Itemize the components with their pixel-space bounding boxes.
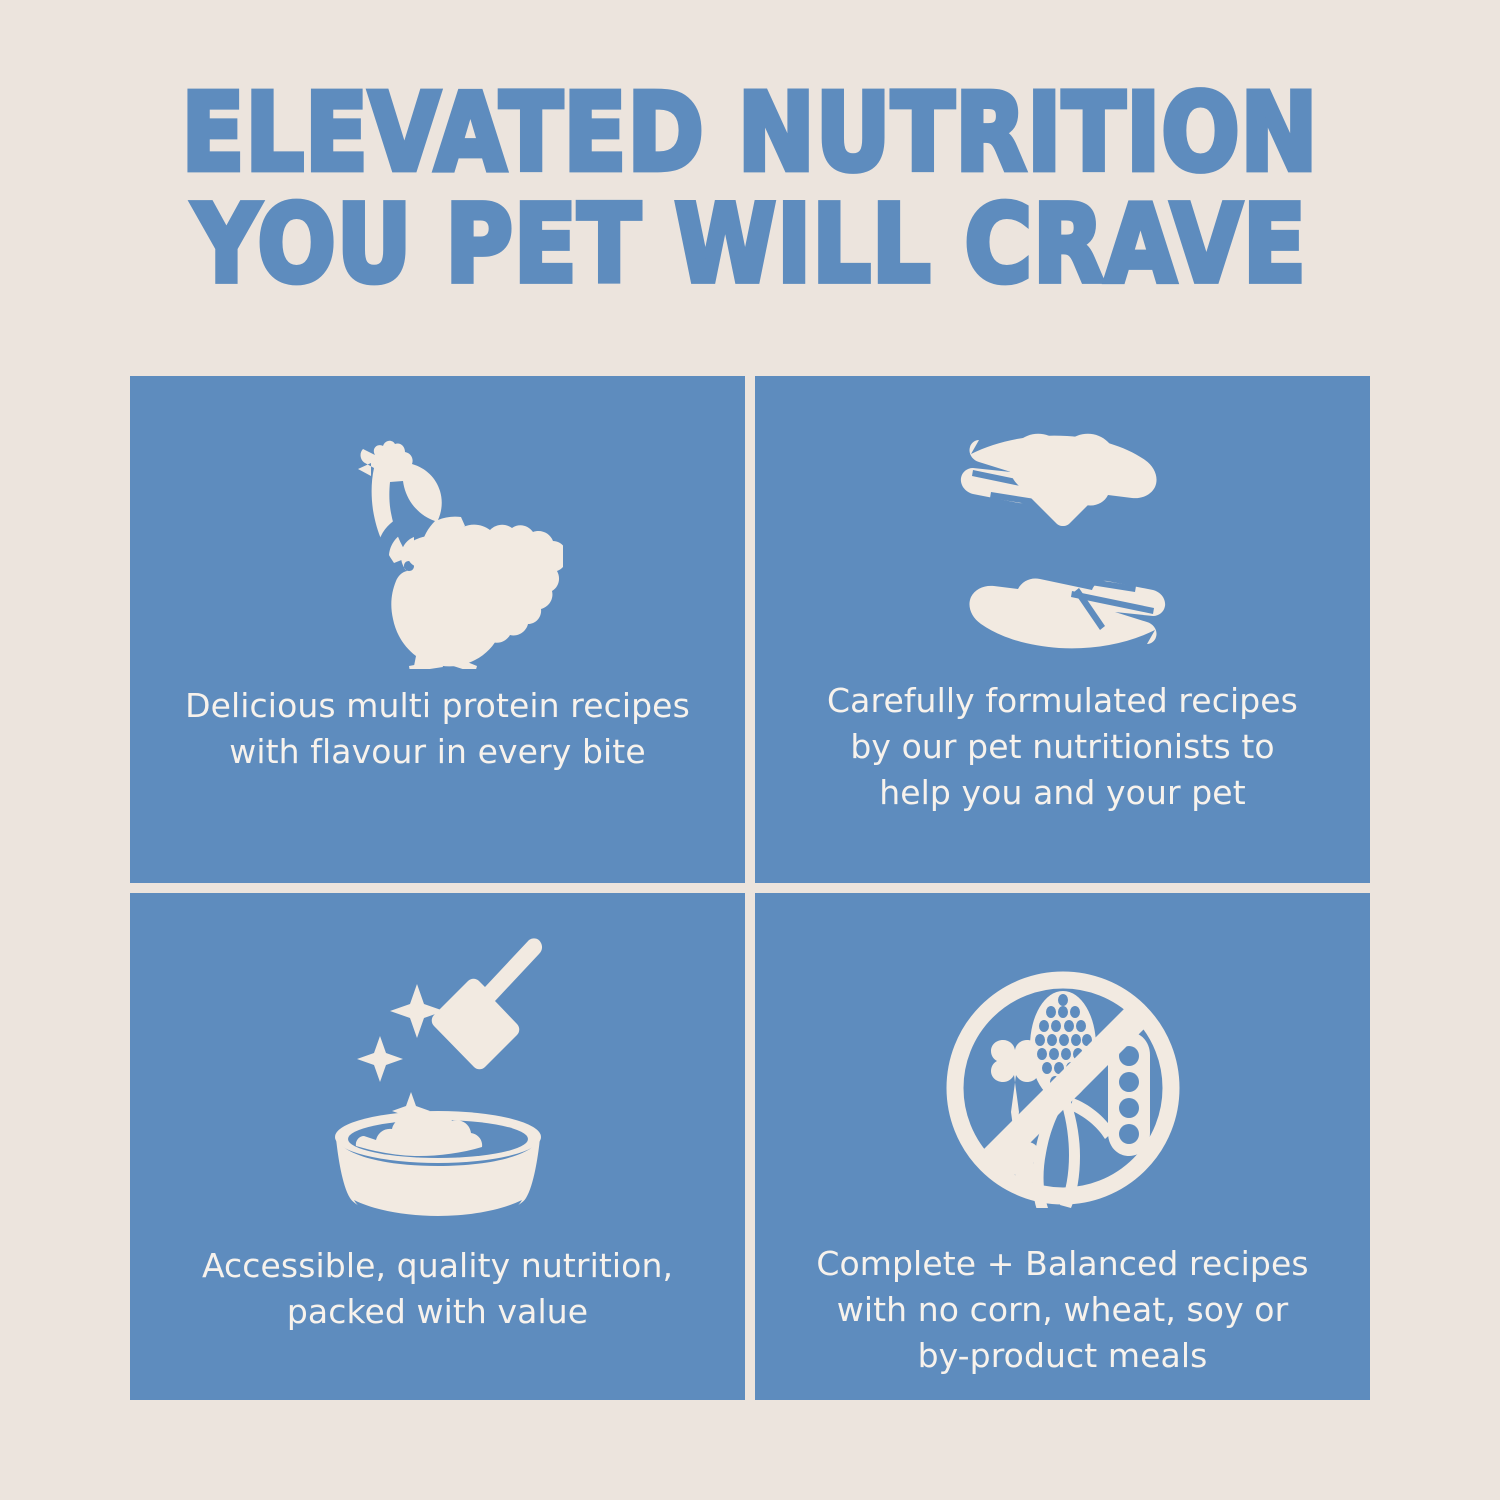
caption-line: Carefully formulated recipes (781, 678, 1344, 724)
benefit-panel-formulated: Carefully formulated recipes by our pet … (755, 376, 1370, 883)
benefit-caption-multi-protein: Delicious multi protein recipes with fla… (130, 683, 745, 775)
benefit-caption-formulated: Carefully formulated recipes by our pet … (755, 678, 1370, 816)
caption-line: Accessible, quality nutrition, (156, 1243, 719, 1289)
infographic-canvas: ELEVATED NUTRITION YOU PET WILL CRAVE (0, 0, 1500, 1500)
benefits-grid: Delicious multi protein recipes with fla… (130, 376, 1370, 1400)
caption-line: packed with value (156, 1289, 719, 1335)
caption-line: by-product meals (781, 1333, 1344, 1379)
benefit-panel-multi-protein: Delicious multi protein recipes with fla… (130, 376, 745, 883)
caption-line: by our pet nutritionists to (781, 724, 1344, 770)
hands-heart-icon (755, 422, 1370, 662)
chicken-turkey-icon (130, 418, 745, 670)
benefit-panel-no-fillers: Complete + Balanced recipes with no corn… (755, 893, 1370, 1400)
caption-line: with flavour in every bite (156, 729, 719, 775)
caption-line: help you and your pet (781, 770, 1344, 816)
caption-line: with no corn, wheat, soy or (781, 1287, 1344, 1333)
benefit-panel-value: Accessible, quality nutrition, packed wi… (130, 893, 745, 1400)
caption-line: Delicious multi protein recipes (156, 683, 719, 729)
headline-line-1: ELEVATED NUTRITION (0, 78, 1500, 189)
page-title: ELEVATED NUTRITION YOU PET WILL CRAVE (0, 78, 1500, 301)
benefit-caption-no-fillers: Complete + Balanced recipes with no corn… (755, 1241, 1370, 1379)
caption-line: Complete + Balanced recipes (781, 1241, 1344, 1287)
headline-line-2: YOU PET WILL CRAVE (0, 189, 1500, 300)
no-corn-wheat-soy-icon (755, 963, 1370, 1213)
benefit-caption-value: Accessible, quality nutrition, packed wi… (130, 1243, 745, 1335)
scoop-bowl-icon (130, 927, 745, 1227)
